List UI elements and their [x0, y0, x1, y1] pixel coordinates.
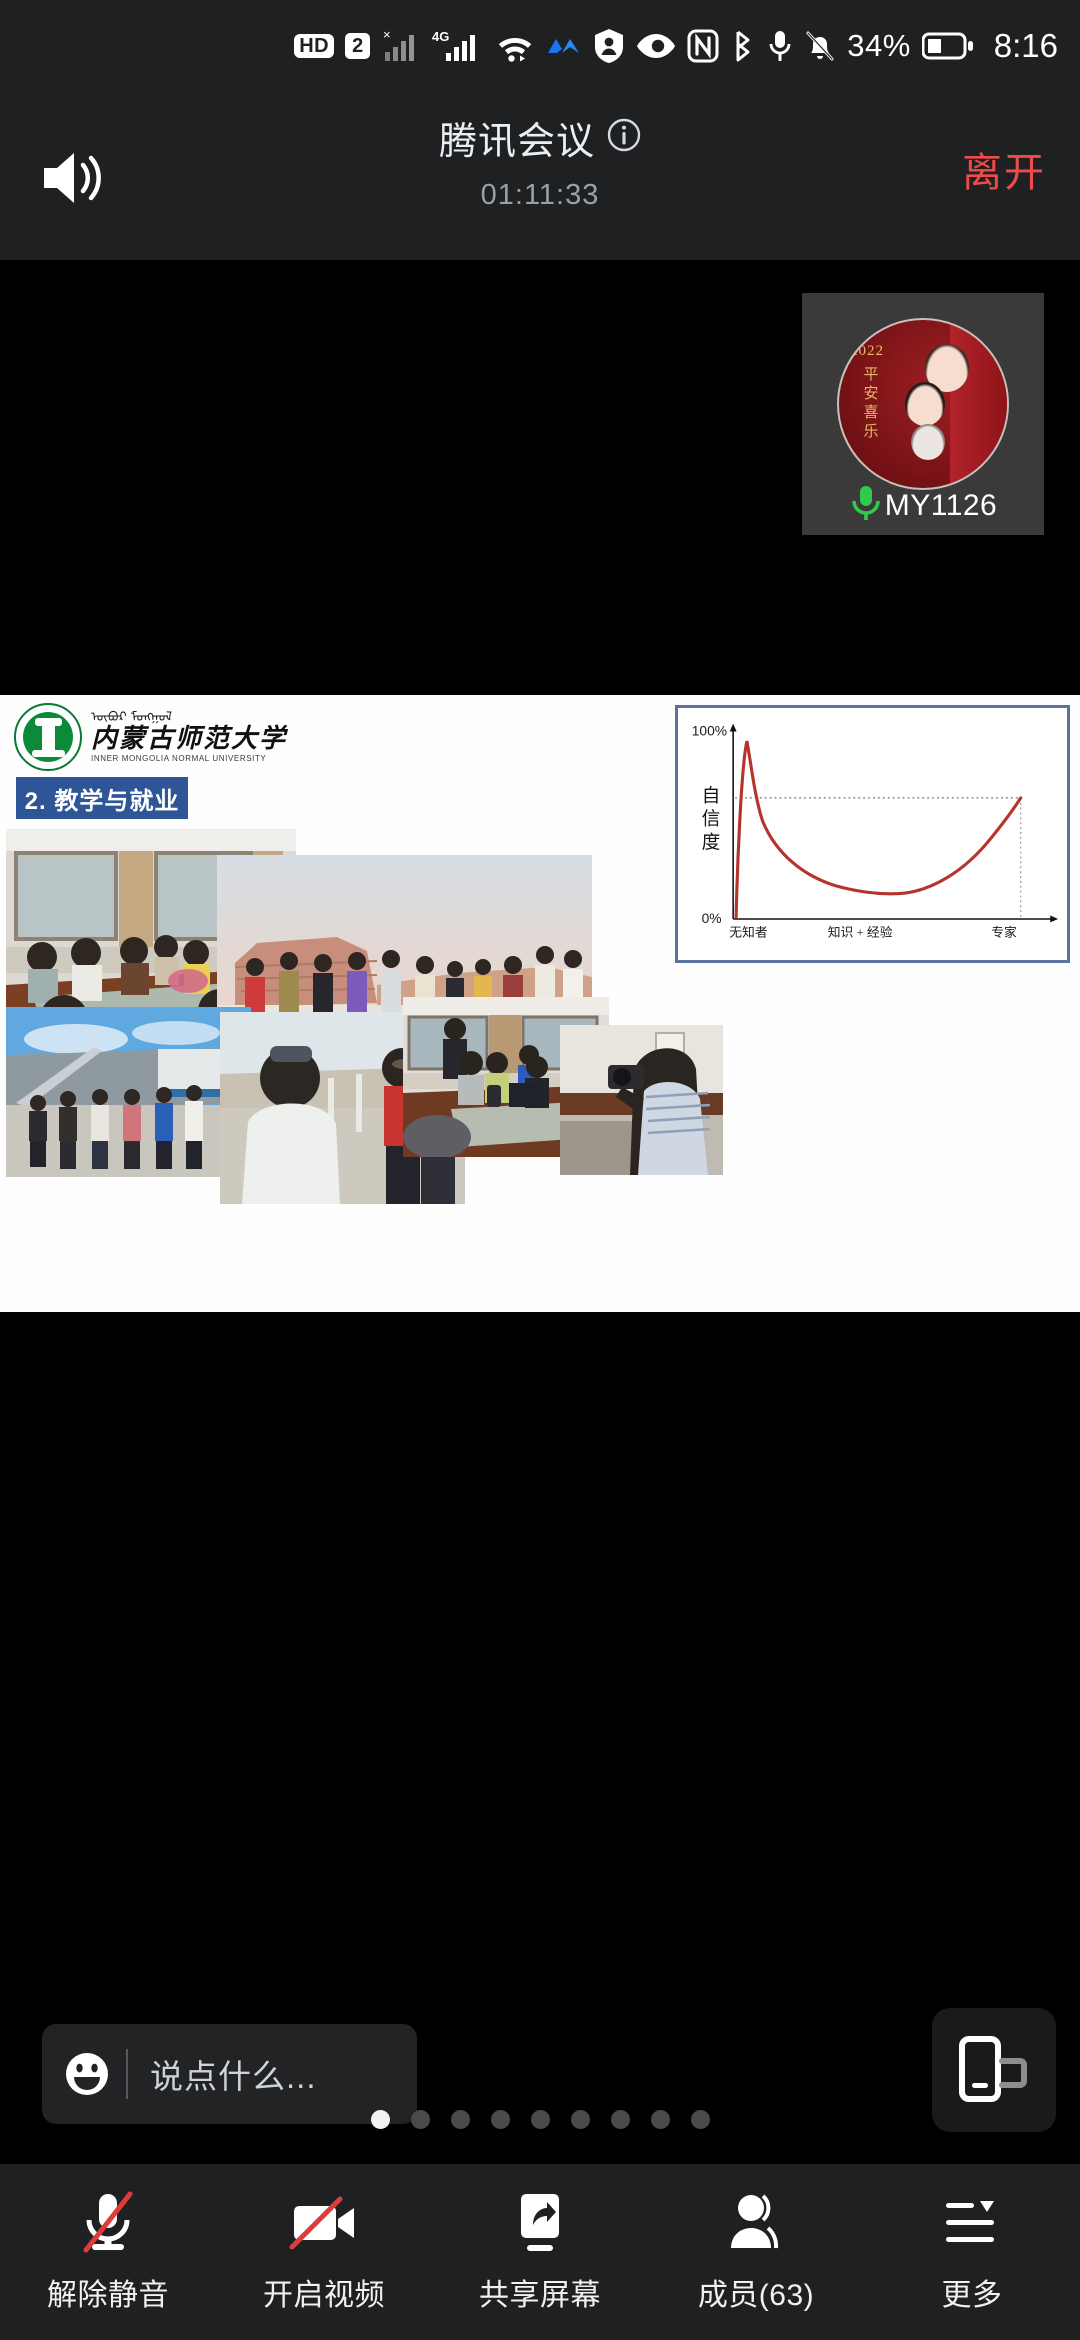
logo-english-label: INNER MONGOLIA NORMAL UNIVERSITY: [91, 754, 287, 763]
sim-2-icon: 2: [345, 26, 370, 66]
privacy-shield-icon: [593, 26, 625, 66]
page-dot-4[interactable]: [491, 2110, 510, 2129]
logo-text: ᠦᠪᠦᠷ ᠮᠣᠩᠭᠣᠯ 内蒙古师范大学 INNER MONGOLIA NORMA…: [91, 711, 287, 762]
notifications-off-icon: [804, 26, 836, 66]
page-dot-5[interactable]: [531, 2110, 550, 2129]
start-video-label: 开启视频: [263, 2270, 385, 2314]
microphone-on-icon: [849, 483, 883, 528]
start-video-button[interactable]: 开启视频: [216, 2190, 432, 2314]
chat-divider: [126, 2049, 128, 2099]
info-icon[interactable]: [607, 118, 641, 157]
page-dots[interactable]: [0, 2110, 1080, 2129]
microphone-muted-icon: [78, 2190, 138, 2256]
slide-section-title: 2. 教学与就业: [25, 781, 180, 816]
chart-xtick-0: 无知者: [729, 926, 768, 940]
battery-percent-label: 34%: [847, 28, 911, 64]
chart-ylabel-c1: 自: [702, 786, 721, 807]
status-bar: HD 2 × 4G: [0, 0, 1080, 92]
header-center: 腾讯会议 01:11:33: [0, 110, 1080, 212]
seal-mark: [42, 720, 55, 754]
avatar-greeting-label: 平安喜乐: [861, 366, 881, 441]
unmute-label: 解除静音: [47, 2270, 169, 2314]
4g-signal-icon: 4G: [432, 26, 484, 66]
meeting-header: 腾讯会议 01:11:33 离开: [0, 92, 1080, 260]
meitu-app-icon: [546, 26, 582, 66]
chat-input-bar[interactable]: 说点什么...: [42, 2024, 417, 2124]
page-dot-9[interactable]: [691, 2110, 710, 2129]
page-title: 腾讯会议: [439, 110, 595, 165]
university-seal-icon: [14, 703, 82, 771]
bluetooth-icon: [730, 26, 756, 66]
participant-footer: MY1126: [802, 483, 1044, 528]
avatar: 2022 平安喜乐: [837, 318, 1009, 490]
participant-name: MY1126: [885, 489, 998, 523]
chart-ytick-max: 100%: [692, 723, 727, 738]
nfc-icon: [687, 26, 719, 66]
people-icon: [725, 2190, 787, 2256]
more-menu-icon: [944, 2190, 1000, 2256]
avatar-face-child: [911, 424, 945, 460]
status-time: 8:16: [994, 27, 1058, 65]
chart-ylabel-c3: 度: [702, 833, 721, 854]
more-button[interactable]: 更多: [864, 2190, 1080, 2314]
video-stage[interactable]: 2022 平安喜乐 MY1126: [0, 260, 1080, 695]
share-screen-icon: [511, 2190, 569, 2256]
signal-no-service-icon: ×: [381, 26, 421, 66]
share-screen-button[interactable]: 共享屏幕: [432, 2190, 648, 2314]
wifi-icon: [495, 26, 535, 66]
battery-icon: [922, 26, 974, 66]
page-dot-8[interactable]: [651, 2110, 670, 2129]
page-dot-7[interactable]: [611, 2110, 630, 2129]
leave-button[interactable]: 离开: [962, 140, 1046, 198]
svg-text:×: ×: [383, 28, 391, 42]
page-dot-1[interactable]: [371, 2110, 390, 2129]
chat-input-placeholder[interactable]: 说点什么...: [150, 2050, 317, 2098]
chart-ytick-min: 0%: [702, 911, 722, 926]
svg-text:4G: 4G: [432, 29, 449, 44]
chart-svg: 100% 0% 自 信 度 无知者 知识 + 经验 专家: [678, 708, 1067, 960]
photo-group-bridge: [6, 1007, 251, 1177]
photo-camera-girl: [560, 1025, 723, 1175]
members-label: 成员(63): [698, 2270, 814, 2314]
avatar-year-label: 2022: [850, 343, 884, 360]
header-title-row: 腾讯会议: [0, 110, 1080, 165]
chart-xtick-1: 知识 + 经验: [828, 925, 893, 940]
bottom-toolbar: 解除静音 开启视频 共享屏幕: [0, 2164, 1080, 2340]
eye-comfort-icon: [636, 26, 676, 66]
phone-rotate-icon[interactable]: [932, 2008, 1056, 2132]
participant-tile[interactable]: 2022 平安喜乐 MY1126: [802, 293, 1044, 535]
page-dot-2[interactable]: [411, 2110, 430, 2129]
emoji-smiley-icon[interactable]: [64, 2051, 110, 2097]
page-dot-3[interactable]: [451, 2110, 470, 2129]
camera-off-icon: [288, 2190, 360, 2256]
hd-icon: HD: [294, 26, 334, 66]
logo-mongolian-label: ᠦᠪᠦᠷ ᠮᠣᠩᠭᠣᠯ: [91, 711, 287, 724]
share-screen-label: 共享屏幕: [479, 2270, 601, 2314]
slide-section-banner: 2. 教学与就业: [16, 777, 188, 819]
unmute-button[interactable]: 解除静音: [0, 2190, 216, 2314]
members-button[interactable]: 成员(63): [648, 2190, 864, 2314]
more-label: 更多: [942, 2270, 1003, 2314]
avatar-band: [950, 320, 1007, 488]
microphone-active-icon: [767, 26, 793, 66]
shared-slide[interactable]: ᠦᠪᠦᠷ ᠮᠣᠩᠭᠣᠯ 内蒙古师范大学 INNER MONGOLIA NORMA…: [0, 695, 1080, 1312]
avatar-face-woman: [905, 382, 945, 426]
page-dot-6[interactable]: [571, 2110, 590, 2129]
university-logo: ᠦᠪᠦᠷ ᠮᠣᠩᠭᠣᠯ 内蒙古师范大学 INNER MONGOLIA NORMA…: [14, 703, 287, 771]
logo-chinese-label: 内蒙古师范大学: [91, 725, 287, 752]
chart-xtick-2: 专家: [991, 925, 1017, 940]
meeting-timer: 01:11:33: [0, 179, 1080, 212]
chart-ylabel-c2: 信: [702, 809, 721, 830]
confidence-chart: 100% 0% 自 信 度 无知者 知识 + 经验 专家: [675, 705, 1070, 963]
